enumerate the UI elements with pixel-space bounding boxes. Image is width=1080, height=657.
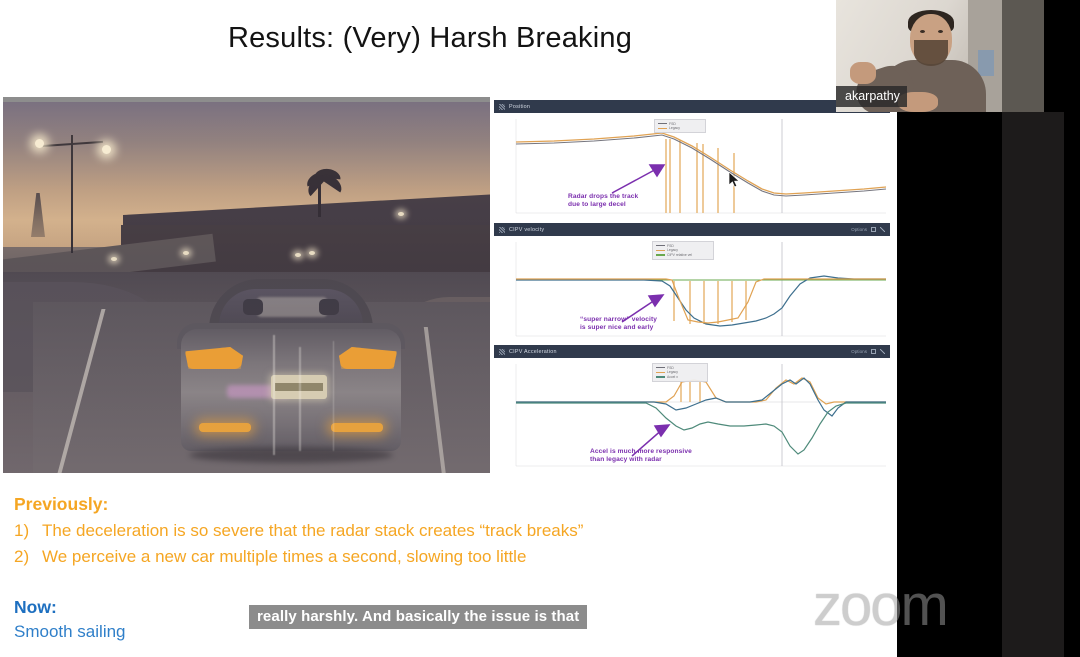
speaker-hand-left [850, 62, 876, 84]
annotation-line-2: due to large decel [568, 201, 626, 209]
legend-label: CIPV relative vel [667, 253, 692, 257]
now-heading: Now: [14, 597, 57, 618]
annotation-arrow [612, 165, 664, 193]
legend-swatch [656, 245, 665, 246]
options-label[interactable]: Options [851, 349, 867, 354]
legend-cipv-acceleration: FSD Legacy Accel x [652, 363, 708, 382]
panel-cipv-acceleration: CIPV Acceleration Options [494, 345, 890, 475]
drag-handle-icon[interactable] [499, 104, 505, 110]
edit-icon[interactable] [880, 349, 885, 354]
panel-position: Position Options [494, 100, 890, 223]
telemetry-plots: Position Options [494, 100, 890, 475]
options-label[interactable]: Options [851, 227, 867, 232]
legend-swatch [658, 128, 667, 129]
panel-title: Position [509, 104, 530, 110]
annotation-line-1: “super narrow” velocity [580, 316, 657, 324]
fsd-trace [516, 135, 886, 196]
legacy-trace [516, 378, 886, 404]
annotation-line-2: is super nice and early [580, 324, 653, 332]
annotation-line-1: Radar drops the track [568, 193, 638, 201]
dashcam-video-still [3, 97, 490, 473]
participant-name-label: akarpathy [836, 86, 907, 107]
image-haze [3, 97, 490, 473]
fsd-trace [516, 276, 886, 326]
legend-item: Accel x [656, 375, 704, 380]
legend-swatch [656, 372, 665, 373]
panel-title: CIPV velocity [509, 227, 544, 233]
bullet-text: The deceleration is so severe that the r… [42, 521, 583, 540]
bullet-number: 2) [14, 547, 42, 567]
blue-object [978, 50, 994, 76]
bullet-item-1: 1)The deceleration is so severe that the… [14, 521, 583, 541]
previously-heading: Previously: [14, 494, 108, 515]
zoom-meeting-screen: Results: (Very) Harsh Breaking [0, 0, 1080, 657]
annotation-line-1: Accel is much more responsive [590, 448, 692, 456]
drag-handle-icon[interactable] [499, 349, 505, 355]
legend-swatch [656, 367, 665, 368]
zoom-watermark: zoom [813, 572, 897, 639]
panel-header-actions: Options [851, 349, 885, 354]
speaker-eye-right [938, 30, 943, 33]
legend-label: Legacy [667, 370, 678, 374]
live-caption: really harshly. And basically the issue … [249, 605, 587, 629]
legacy-trace [516, 279, 886, 323]
track-break-bars [681, 381, 700, 402]
speaker-eye-left [920, 30, 925, 33]
webcam-right-filler [1044, 0, 1080, 112]
panel-title: CIPV Acceleration [509, 349, 557, 355]
speaker-beard [914, 40, 948, 66]
panel-header[interactable]: Position Options [494, 100, 890, 113]
legend-label: FSD [669, 122, 676, 126]
plot-cipv-velocity[interactable]: FSD Legacy CIPV relative vel “super narr… [494, 236, 890, 345]
drag-handle-icon[interactable] [499, 227, 505, 233]
legend-swatch [658, 123, 667, 124]
legend-label: FSD [667, 366, 674, 370]
plot-cipv-acceleration[interactable]: FSD Legacy Accel x Accel is much more re… [494, 358, 890, 475]
mouse-cursor [729, 172, 741, 190]
legend-label: FSD [667, 244, 674, 248]
panel-header[interactable]: CIPV Acceleration Options [494, 345, 890, 358]
legend-item: CIPV relative vel [656, 253, 710, 258]
legend-position: FSD Legacy [654, 119, 706, 133]
legend-swatch [656, 250, 665, 251]
legend-item: Legacy [658, 126, 702, 131]
legend-cipv-velocity: FSD Legacy CIPV relative vel [652, 241, 714, 260]
page-title: Results: (Very) Harsh Breaking [0, 22, 860, 55]
zoom-watermark-overlay: zoom [897, 572, 1080, 657]
track-break-bars [666, 139, 734, 213]
plot-position[interactable]: FSD Legacy Radar drops the track due to … [494, 113, 890, 223]
accel-x-trace [516, 403, 886, 454]
edit-icon[interactable] [880, 227, 885, 232]
legend-swatch [656, 254, 665, 255]
expand-icon[interactable] [871, 227, 876, 232]
legend-swatch [656, 376, 665, 377]
video-top-bar [3, 97, 490, 102]
bullet-text: We perceive a new car multiple times a s… [42, 547, 526, 566]
panel-header[interactable]: CIPV velocity Options [494, 223, 890, 236]
legend-label: Accel x [667, 375, 678, 379]
bullet-number: 1) [14, 521, 42, 541]
panel-cipv-velocity: CIPV velocity Options [494, 223, 890, 345]
dark-room-area [1002, 0, 1044, 112]
expand-icon[interactable] [871, 349, 876, 354]
shared-slide: Results: (Very) Harsh Breaking [0, 0, 897, 657]
bullet-item-2: 2)We perceive a new car multiple times a… [14, 547, 526, 567]
panel-header-actions: Options [851, 227, 885, 232]
track-break-bars [674, 281, 746, 324]
now-text: Smooth sailing [14, 622, 126, 642]
legend-label: Legacy [667, 248, 678, 252]
legend-label: Legacy [669, 126, 680, 130]
annotation-line-2: than legacy with radar [590, 456, 662, 464]
